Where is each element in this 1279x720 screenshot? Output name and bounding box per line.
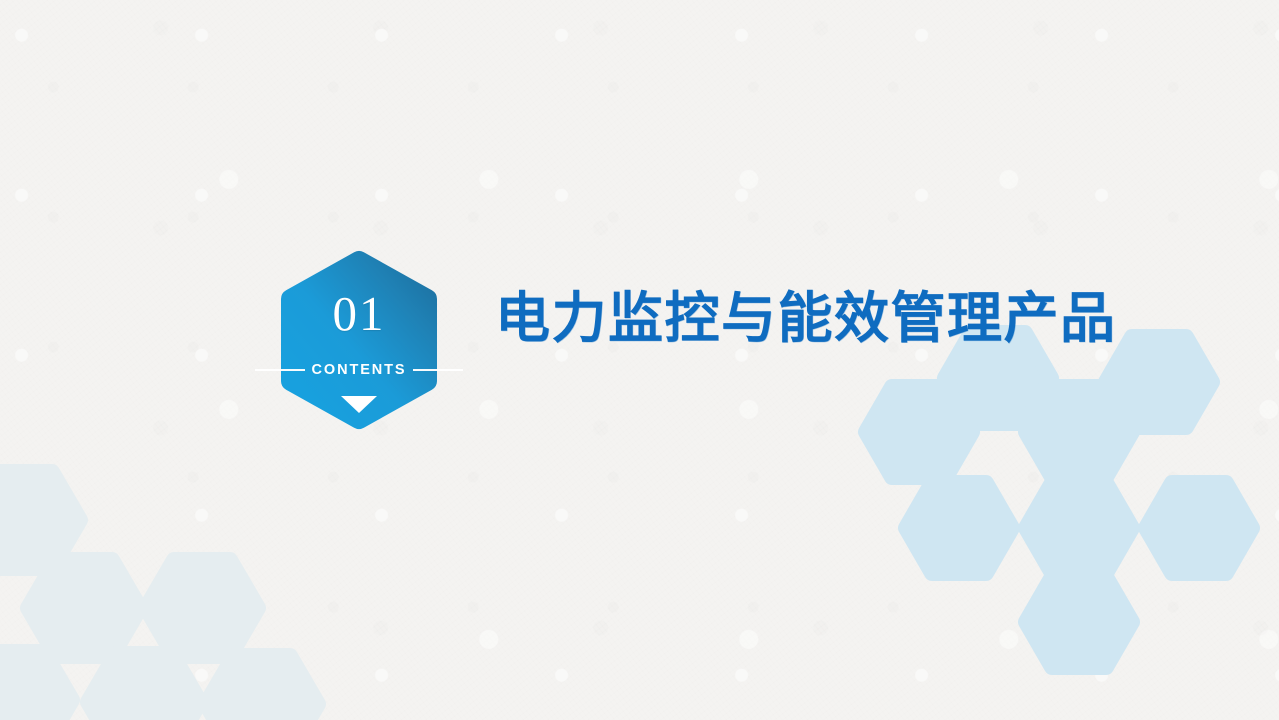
- presentation-slide: 01 CONTENTS 电力监控与能效管理产品: [0, 0, 1279, 720]
- decorative-hexagon: [146, 560, 258, 656]
- decorative-hexagon: [1106, 337, 1212, 427]
- decorative-hexagon: [0, 652, 72, 720]
- decorative-hexagon: [1026, 387, 1132, 477]
- decorative-hexagon: [88, 654, 200, 720]
- paper-texture-overlay: [0, 0, 1279, 720]
- contents-badge[interactable]: 01 CONTENTS: [269, 249, 449, 431]
- page-title: 电力监控与能效管理产品: [495, 289, 1117, 348]
- decorative-hexagon: [906, 483, 1012, 573]
- badge-caption: CONTENTS: [305, 363, 414, 378]
- decorative-hexagon: [206, 656, 318, 720]
- triangle-down-icon: [341, 396, 377, 413]
- caption-rule-left: [255, 369, 305, 371]
- decorative-hexagon: [866, 387, 972, 477]
- badge-caption-row: CONTENTS: [255, 361, 463, 379]
- caption-rule-right: [413, 369, 463, 371]
- decorative-hexagon: [1146, 483, 1252, 573]
- decorative-hexagon: [1026, 577, 1132, 667]
- decorative-hexagon: [28, 560, 140, 656]
- hexagon-cluster-right-decoration: [0, 0, 1279, 720]
- hexagon-cluster-left-decoration: [0, 0, 1279, 720]
- badge-number: 01: [269, 289, 449, 338]
- decorative-hexagon: [0, 472, 80, 568]
- decorative-hexagon: [1026, 483, 1132, 573]
